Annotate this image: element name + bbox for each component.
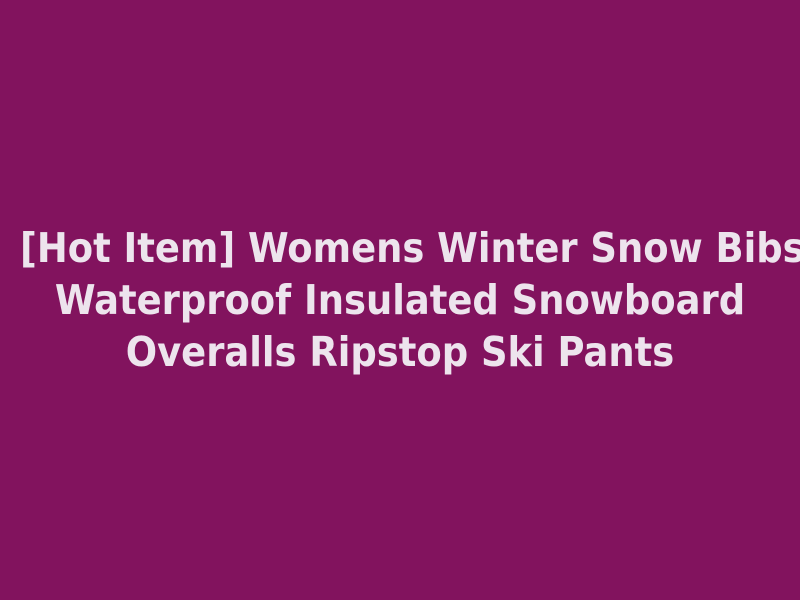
product-title-line-1: [Hot Item] Womens Winter Snow Bibs [20, 222, 780, 274]
product-title: [Hot Item] Womens Winter Snow Bibs Water… [20, 222, 780, 378]
product-title-line-3: Overalls Ripstop Ski Pants [20, 326, 780, 378]
product-title-card: [Hot Item] Womens Winter Snow Bibs Water… [0, 0, 800, 600]
product-title-line-2: Waterproof Insulated Snowboard [20, 274, 780, 326]
